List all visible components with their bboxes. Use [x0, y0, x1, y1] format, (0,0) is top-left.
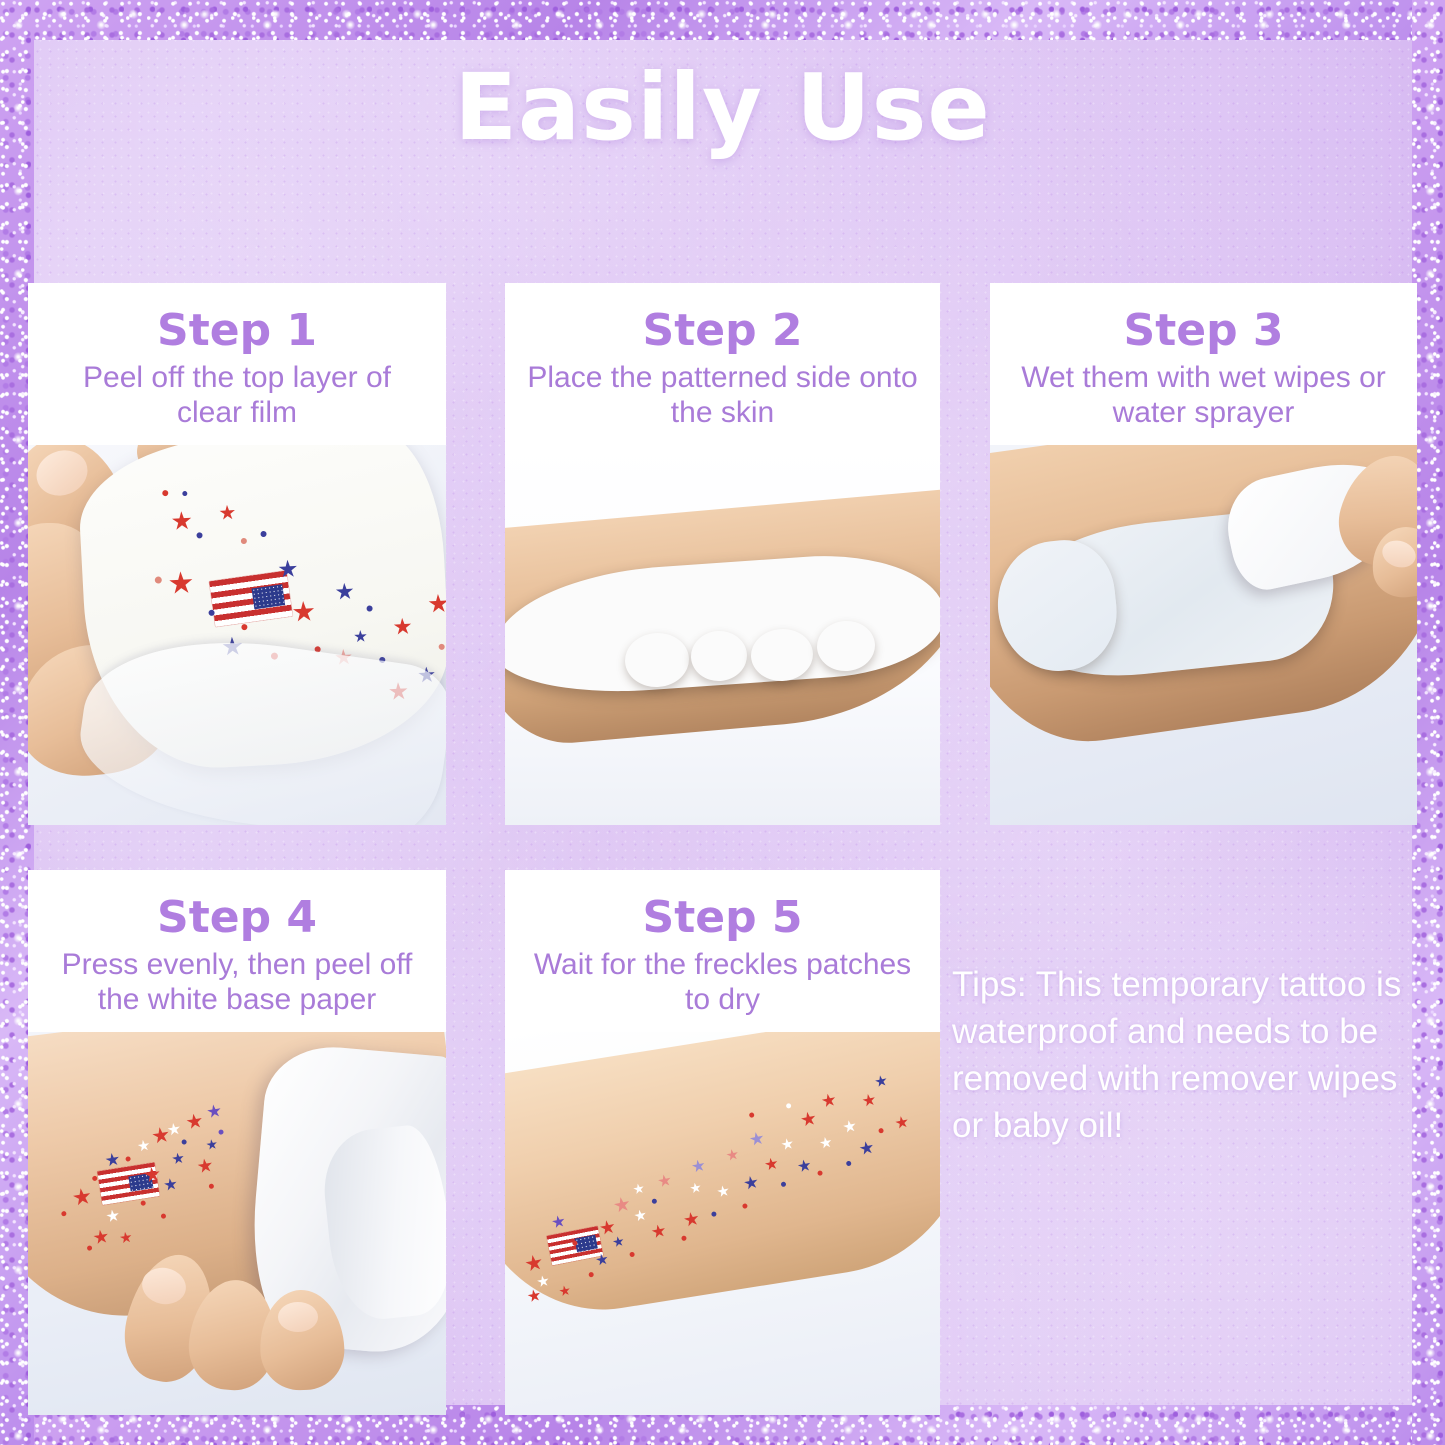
step-5-photo: [505, 1032, 940, 1415]
star-decal: [171, 1151, 185, 1165]
dot-decal: [125, 1156, 131, 1162]
dot-decal: [878, 1127, 884, 1133]
star-decal: [527, 1288, 542, 1303]
glitter-border-top: [0, 0, 1445, 40]
step-3-label: Step 3: [1004, 309, 1403, 354]
dot-decal: [92, 1175, 98, 1181]
step-3-description: Wet them with wet wipes or water sprayer: [1004, 360, 1403, 431]
step-3-photo: [990, 445, 1417, 825]
star-decal: [558, 1284, 571, 1297]
star-decal: [633, 1208, 647, 1222]
dot-decal: [196, 532, 202, 538]
star-decal: [764, 1156, 779, 1171]
star-decal: [197, 1157, 214, 1174]
star-decal: [206, 1138, 219, 1151]
star-decal: [800, 1110, 818, 1128]
dot-decal: [182, 491, 187, 496]
star-decal: [92, 1228, 109, 1245]
dot-decal: [846, 1160, 852, 1166]
step-card-2: Step 2 Place the patterned side onto the…: [505, 283, 940, 825]
dot-decal: [155, 576, 162, 583]
step-2-description: Place the patterned side onto the skin: [519, 360, 926, 431]
step-4-label: Step 4: [42, 896, 432, 941]
step-4-description: Press evenly, then peel off the white ba…: [42, 947, 432, 1018]
photo-4-fingernail: [278, 1302, 318, 1332]
star-decal: [683, 1210, 701, 1228]
star-decal: [894, 1115, 909, 1130]
star-decal: [119, 1231, 133, 1245]
star-decal: [536, 1274, 550, 1288]
step-4-photo: [28, 1032, 446, 1415]
step-card-3: Step 3 Wet them with wet wipes or water …: [990, 283, 1417, 825]
star-decal: [599, 1219, 617, 1237]
step-card-4: Step 4 Press evenly, then peel off the w…: [28, 870, 446, 1415]
star-decal: [185, 1112, 203, 1130]
star-decal: [780, 1137, 794, 1151]
dot-decal: [749, 1112, 755, 1118]
dot-decal: [140, 1200, 146, 1206]
dot-decal: [817, 1170, 823, 1176]
star-decal: [689, 1181, 702, 1194]
star-decal: [551, 1214, 566, 1229]
star-decal: [749, 1130, 765, 1146]
photo-5-flag-canton: [575, 1235, 598, 1253]
tips-text: Tips: This temporary tattoo is waterproo…: [952, 962, 1414, 1150]
star-decal: [167, 1122, 182, 1137]
dot-decal: [786, 1103, 792, 1109]
star-decal: [72, 1186, 93, 1207]
star-decal: [821, 1092, 837, 1108]
dot-decal: [162, 490, 168, 496]
star-decal: [691, 1158, 706, 1173]
step-2-header: Step 2 Place the patterned side onto the…: [505, 283, 940, 445]
dot-decal: [681, 1235, 687, 1241]
step-card-5: Step 5 Wait for the freckles patches to …: [505, 870, 940, 1415]
star-decal: [292, 600, 315, 623]
dot-decal: [629, 1251, 635, 1257]
dot-decal: [742, 1203, 748, 1209]
dot-decal: [366, 605, 372, 611]
star-decal: [861, 1092, 876, 1107]
star-decal: [743, 1174, 759, 1190]
step-4-header: Step 4 Press evenly, then peel off the w…: [28, 870, 446, 1032]
poster-canvas: Easily Use Step 1 Peel off the top layer…: [0, 0, 1445, 1445]
step-1-description: Peel off the top layer of clear film: [42, 360, 432, 431]
star-decal: [428, 593, 446, 614]
step-3-header: Step 3 Wet them with wet wipes or water …: [990, 283, 1417, 445]
step-1-label: Step 1: [42, 309, 432, 354]
star-decal: [219, 504, 236, 521]
dot-decal: [208, 609, 214, 615]
dot-decal: [241, 538, 247, 544]
star-decal: [524, 1253, 544, 1273]
star-decal: [657, 1173, 672, 1188]
dot-decal: [651, 1198, 657, 1204]
step-2-photo: [505, 445, 940, 825]
dot-decal: [588, 1271, 594, 1277]
star-decal: [105, 1152, 121, 1168]
star-decal: [613, 1195, 632, 1214]
dot-decal: [781, 1181, 787, 1187]
step-2-label: Step 2: [519, 309, 926, 354]
step-5-label: Step 5: [519, 896, 926, 941]
star-decal: [151, 1125, 170, 1144]
dot-decal: [218, 1129, 224, 1135]
star-decal: [354, 629, 368, 643]
dot-decal: [260, 530, 266, 536]
star-decal: [842, 1119, 857, 1134]
star-decal: [171, 510, 192, 531]
star-decal: [819, 1136, 833, 1150]
star-decal: [137, 1139, 151, 1153]
star-decal: [632, 1182, 645, 1195]
page-title: Easily Use: [0, 62, 1445, 154]
step-1-header: Step 1 Peel off the top layer of clear f…: [28, 283, 446, 445]
star-decal: [612, 1235, 625, 1248]
star-decal: [874, 1074, 888, 1088]
dot-decal: [209, 1183, 215, 1189]
star-decal: [163, 1177, 178, 1192]
star-decal: [206, 1103, 222, 1119]
photo-4-flag-decal: [97, 1162, 160, 1205]
star-decal: [651, 1223, 667, 1239]
star-decal: [797, 1158, 812, 1173]
star-decal: [858, 1140, 874, 1156]
star-decal: [716, 1184, 730, 1198]
dot-decal: [87, 1245, 93, 1251]
star-decal: [393, 617, 412, 636]
dot-decal: [439, 643, 445, 649]
step-card-1: Step 1 Peel off the top layer of clear f…: [28, 283, 446, 825]
step-5-description: Wait for the freckles patches to dry: [519, 947, 926, 1018]
dot-decal: [61, 1210, 67, 1216]
dot-decal: [711, 1211, 717, 1217]
star-decal: [335, 582, 354, 601]
star-decal: [725, 1148, 739, 1162]
step-5-header: Step 5 Wait for the freckles patches to …: [505, 870, 940, 1032]
dot-decal: [181, 1139, 187, 1145]
dot-decal: [161, 1213, 167, 1219]
star-decal: [105, 1208, 120, 1223]
star-decal: [168, 570, 193, 595]
photo-1-flag-decal: [209, 570, 293, 626]
dot-decal: [241, 624, 247, 630]
step-1-photo: [28, 445, 446, 825]
photo-1-flag-canton: [251, 584, 285, 609]
